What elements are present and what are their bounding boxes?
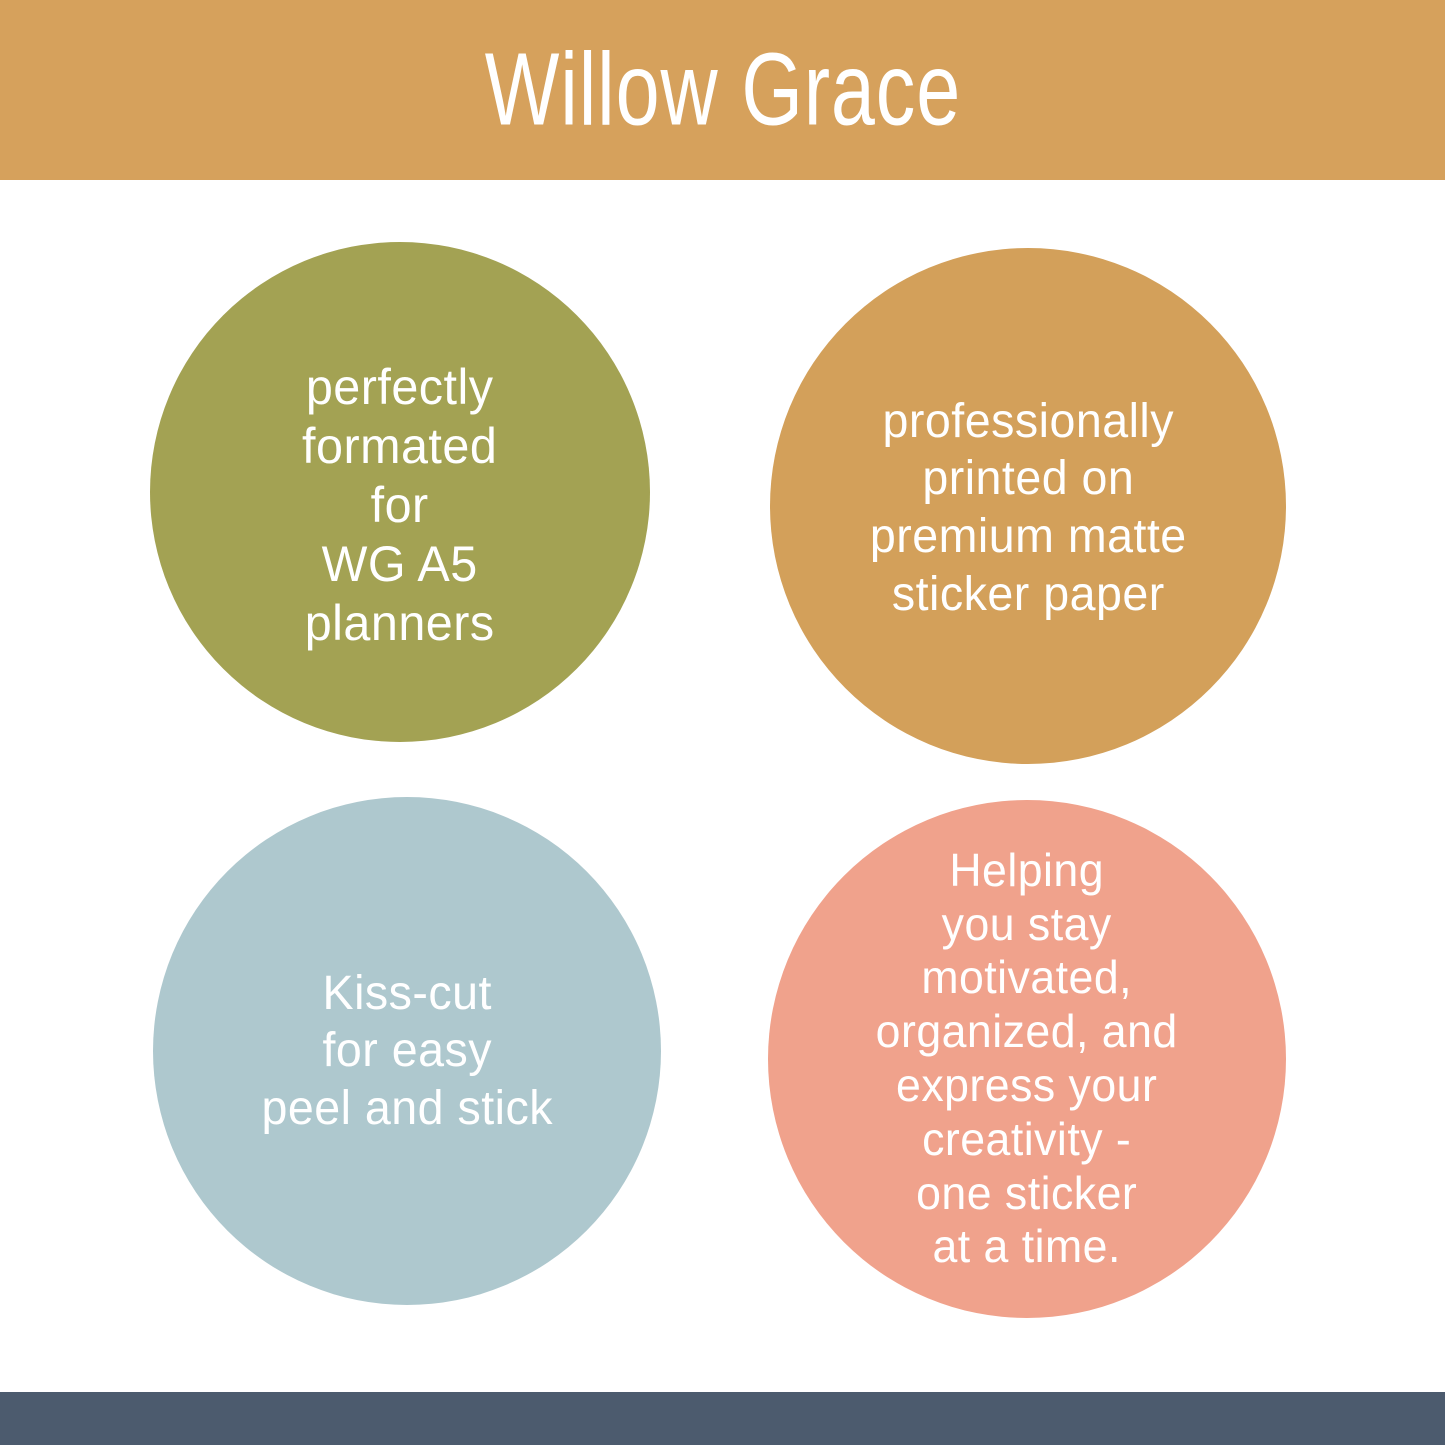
footer-banner [0,1392,1445,1445]
header-banner: Willow Grace [0,0,1445,180]
feature-circle-pink-text: Helping you stay motivated, organized, a… [876,844,1178,1275]
feature-circle-orange: professionally printed on premium matte … [770,248,1286,764]
feature-circle-orange-text: professionally printed on premium matte … [870,393,1187,623]
feature-circle-green: perfectly formated for WG A5 planners [150,242,650,742]
feature-circle-blue-text: Kiss-cut for easy peel and stick [261,965,553,1138]
page-title: Willow Grace [484,38,960,141]
feature-circle-green-text: perfectly formated for WG A5 planners [302,358,497,653]
feature-circle-blue: Kiss-cut for easy peel and stick [153,797,661,1305]
feature-circle-pink: Helping you stay motivated, organized, a… [768,800,1286,1318]
promo-graphic-page: Willow Grace perfectly formated for WG A… [0,0,1445,1445]
feature-circle-grid: perfectly formated for WG A5 planners pr… [0,180,1445,1392]
